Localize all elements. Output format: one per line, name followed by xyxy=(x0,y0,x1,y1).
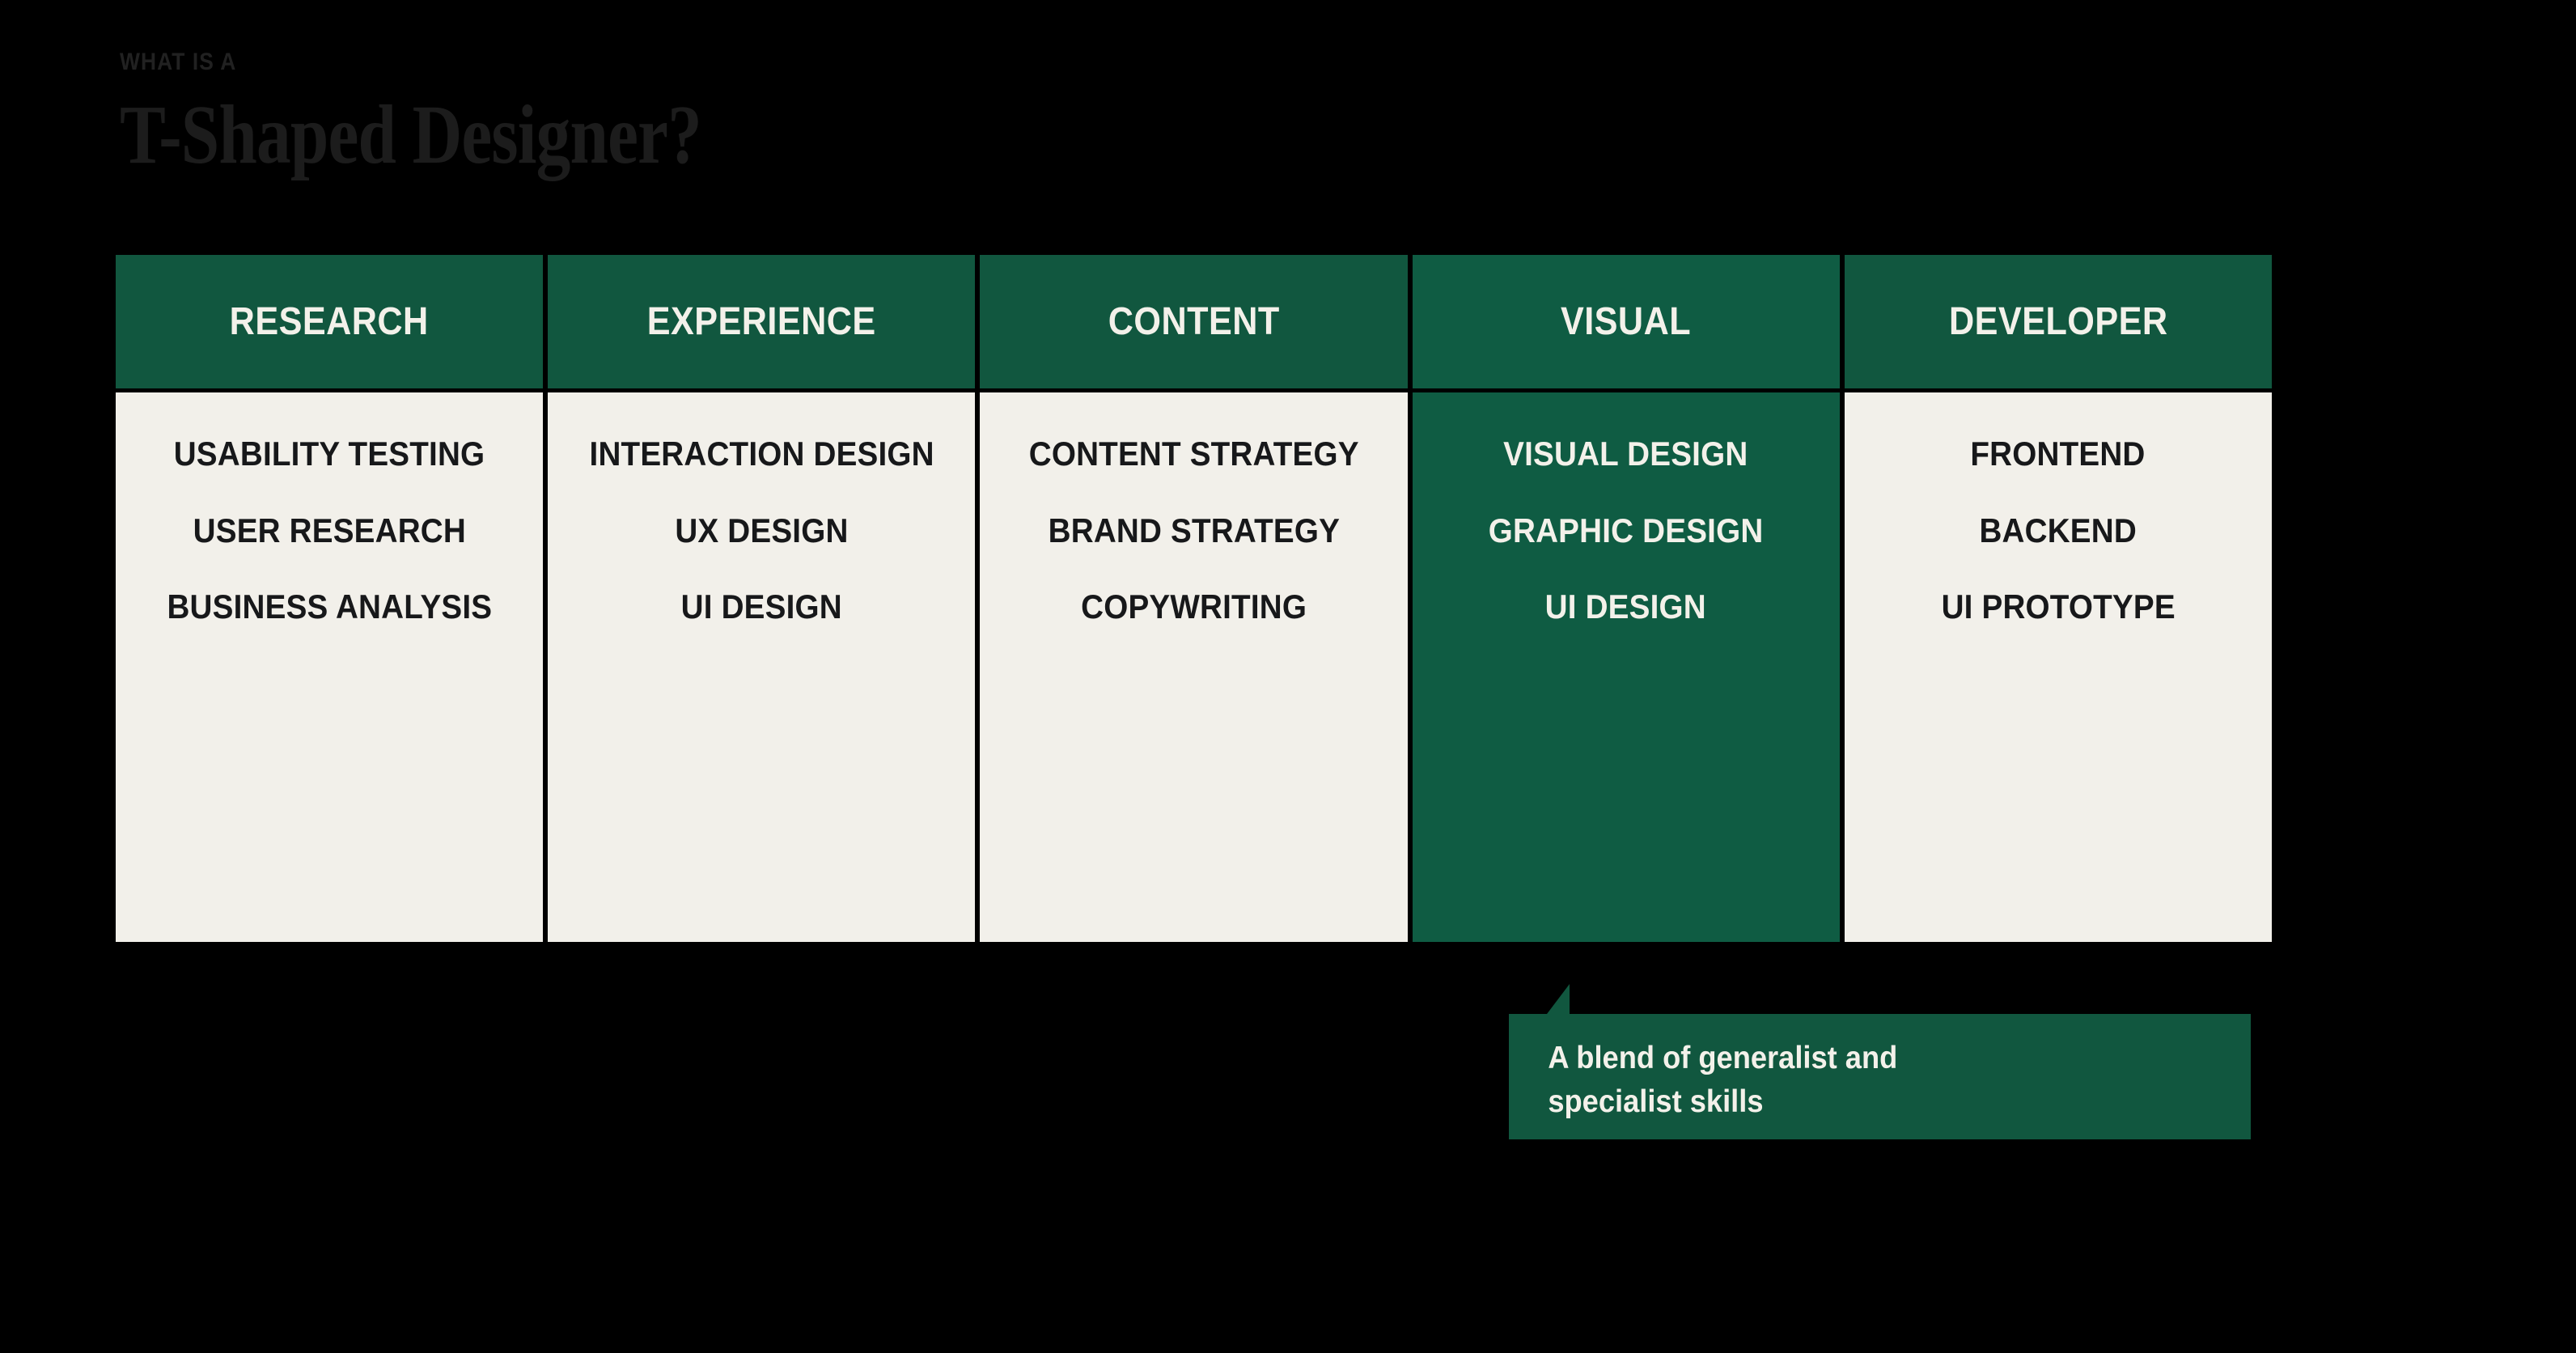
matrix-column-research[interactable]: USABILITY TESTINGUSER RESEARCHBUSINESS A… xyxy=(116,392,543,942)
callout-tail-icon xyxy=(1547,984,1570,1014)
callout-tooltip: A blend of generalist and specialist ski… xyxy=(1509,1014,2251,1139)
matrix-column-visual[interactable]: VISUAL DESIGNGRAPHIC DESIGNUI DESIGN xyxy=(1413,392,1840,942)
matrix-header-row: RESEARCHEXPERIENCECONTENTVISUALDEVELOPER xyxy=(116,255,2272,388)
skill-item: USABILITY TESTING xyxy=(174,435,485,474)
page-title: T-Shaped Designer? xyxy=(120,92,1181,178)
skill-item: COPYWRITING xyxy=(1081,587,1307,627)
skill-item: BUSINESS ANALYSIS xyxy=(167,587,492,627)
matrix-header-label: VISUAL xyxy=(1561,299,1691,344)
skill-item: INTERACTION DESIGN xyxy=(589,435,934,474)
skill-item: CONTENT STRATEGY xyxy=(1029,435,1359,474)
matrix-header-experience[interactable]: EXPERIENCE xyxy=(548,255,975,388)
skill-item: BRAND STRATEGY xyxy=(1048,511,1339,551)
matrix-header-label: EXPERIENCE xyxy=(647,299,876,344)
matrix-header-label: CONTENT xyxy=(1108,299,1280,344)
skill-item: USER RESEARCH xyxy=(193,511,465,551)
skill-item: GRAPHIC DESIGN xyxy=(1489,511,1764,551)
skill-item: UI DESIGN xyxy=(1545,587,1706,627)
skill-item: UX DESIGN xyxy=(675,511,848,551)
skill-item: FRONTEND xyxy=(1971,435,2146,474)
matrix-header-content[interactable]: CONTENT xyxy=(980,255,1407,388)
eyebrow-label: WHAT IS A xyxy=(120,50,1259,74)
skills-matrix: RESEARCHEXPERIENCECONTENTVISUALDEVELOPER… xyxy=(116,255,2272,943)
matrix-header-visual[interactable]: VISUAL xyxy=(1413,255,1840,388)
matrix-column-developer[interactable]: FRONTENDBACKENDUI PROTOTYPE xyxy=(1845,392,2272,942)
matrix-column-experience[interactable]: INTERACTION DESIGNUX DESIGNUI DESIGN xyxy=(548,392,975,942)
matrix-header-research[interactable]: RESEARCH xyxy=(116,255,543,388)
skill-item: UI PROTOTYPE xyxy=(1941,587,2175,627)
skill-item: UI DESIGN xyxy=(681,587,842,627)
callout-text: A blend of generalist and specialist ski… xyxy=(1509,1014,2199,1124)
matrix-body-row: USABILITY TESTINGUSER RESEARCHBUSINESS A… xyxy=(116,392,2272,942)
skill-item: BACKEND xyxy=(1980,511,2137,551)
skill-item: VISUAL DESIGN xyxy=(1504,435,1748,474)
matrix-header-label: RESEARCH xyxy=(230,299,429,344)
matrix-column-content[interactable]: CONTENT STRATEGYBRAND STRATEGYCOPYWRITIN… xyxy=(980,392,1407,942)
matrix-header-label: DEVELOPER xyxy=(1949,299,2168,344)
matrix-header-developer[interactable]: DEVELOPER xyxy=(1845,255,2272,388)
page-heading: WHAT IS A T-Shaped Designer? xyxy=(120,50,1414,178)
